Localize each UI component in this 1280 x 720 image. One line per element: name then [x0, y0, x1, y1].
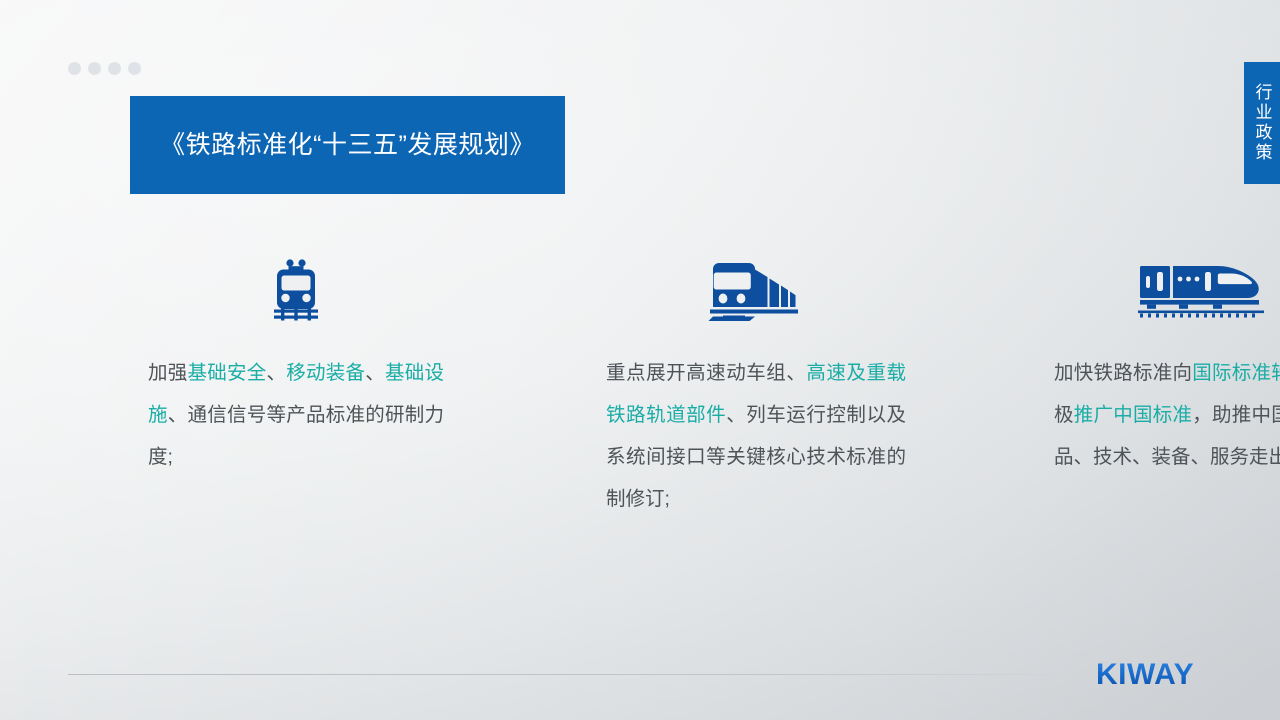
text-segment-highlight: 国际标准转化 — [1192, 362, 1280, 384]
content-column: 加快铁路标准向国际标准转化，积极推广中国标准，助推中国铁路产品、技术、装备、服务… — [966, 248, 1280, 548]
page-title: 《铁路标准化“十三五”发展规划》 — [160, 127, 535, 163]
text-segment: 、 — [266, 362, 286, 384]
column-text: 加强基础安全、移动装备、基础设施、通信信号等产品标准的研制力度; — [148, 352, 444, 478]
train-perspective-icon — [606, 248, 906, 332]
content-column: 重点展开高速动车组、高速及重载铁路轨道部件、列车运行控制以及系统间接口等关键核心… — [506, 248, 966, 548]
decoration-dot — [88, 62, 101, 75]
title-banner: 《铁路标准化“十三五”发展规划》 — [130, 96, 565, 194]
decoration-dot — [108, 62, 121, 75]
train-front-icon — [148, 248, 444, 332]
text-segment-highlight: 移动装备 — [286, 362, 365, 384]
column-text: 加快铁路标准向国际标准转化，积极推广中国标准，助推中国铁路产品、技术、装备、服务… — [1054, 352, 1280, 478]
content-column: 加强基础安全、移动装备、基础设施、通信信号等产品标准的研制力度; — [0, 248, 506, 548]
text-segment: 加强 — [148, 362, 188, 384]
kiway-logo: KIWAY — [1096, 658, 1194, 692]
footer-divider — [68, 674, 1078, 675]
text-segment: 、通信信号等产品标准的研制力度; — [148, 404, 444, 468]
slide-canvas: 《铁路标准化“十三五”发展规划》 行业政策 — [0, 0, 1280, 720]
decoration-dot — [68, 62, 81, 75]
section-tab-label: 行业政策 — [1250, 83, 1275, 163]
dot-decoration — [68, 62, 141, 75]
text-segment-highlight: 推广中国标准 — [1074, 404, 1192, 426]
high-speed-train-icon — [1054, 248, 1280, 332]
text-segment-highlight: 基础安全 — [188, 362, 267, 384]
section-tab-industry-policy[interactable]: 行业政策 — [1244, 62, 1280, 184]
text-segment: 、 — [365, 362, 385, 384]
content-columns: 加强基础安全、移动装备、基础设施、通信信号等产品标准的研制力度; — [0, 248, 1280, 548]
text-segment: 重点展开高速动车组、 — [606, 362, 806, 384]
decoration-dot — [128, 62, 141, 75]
column-text: 重点展开高速动车组、高速及重载铁路轨道部件、列车运行控制以及系统间接口等关键核心… — [606, 352, 906, 520]
text-segment: 加快铁路标准向 — [1054, 362, 1192, 384]
